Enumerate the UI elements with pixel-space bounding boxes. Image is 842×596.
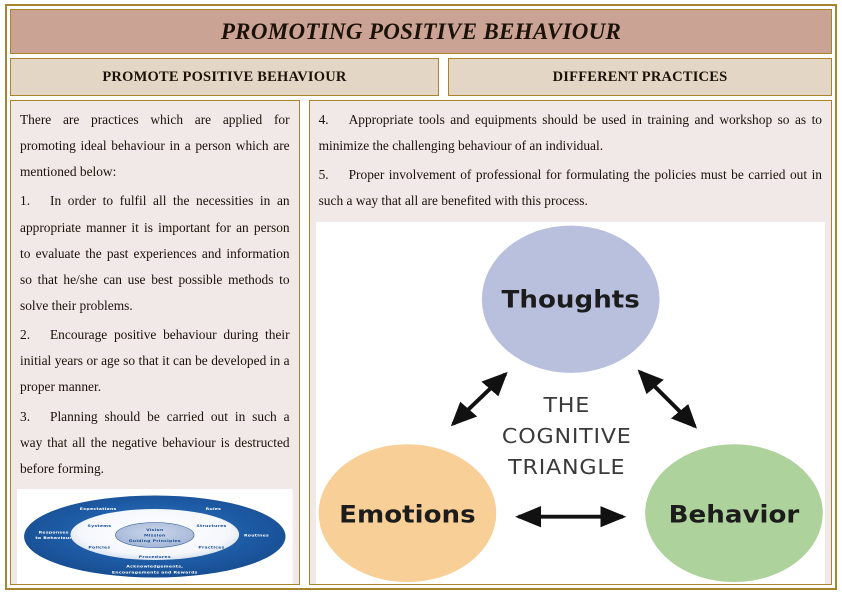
column-header-left-label: PROMOTE POSITIVE BEHAVIOUR (102, 69, 346, 86)
label-responses-line2: to Behaviour (35, 536, 72, 540)
left-paragraph-intro-text: There are practices which are applied fo… (20, 112, 290, 179)
slide-title-band: PROMOTING POSITIVE BEHAVIOUR (10, 9, 832, 54)
label-rules: Rules (206, 507, 222, 511)
column-header-left: PROMOTE POSITIVE BEHAVIOUR (10, 58, 439, 96)
content-cell-left: There are practices which are applied fo… (10, 100, 300, 585)
cognitive-triangle-figure: Thoughts Emotions Behavior THE COGNITIVE… (316, 222, 825, 584)
right-paragraph-5-number: 5. (319, 162, 349, 188)
right-paragraph-4-text: Appropriate tools and equipments should … (319, 112, 822, 153)
label-structures: Structures (196, 524, 226, 528)
label-acknowledgements-line2: Encouragements and Rewards (112, 570, 198, 574)
center-label-line1: THE (542, 394, 590, 418)
left-paragraph-2: 2.Encourage positive behaviour during th… (20, 322, 290, 400)
concentric-behaviour-framework-figure: Expectations Rules Responses to Behaviou… (17, 489, 293, 584)
thoughts-label: Thoughts (501, 285, 639, 313)
label-routines: Routines (244, 533, 269, 537)
column-headers-row: PROMOTE POSITIVE BEHAVIOUR DIFFERENT PRA… (10, 58, 832, 96)
left-paragraph-2-number: 2. (20, 322, 50, 348)
behavior-label: Behavior (668, 500, 799, 528)
emotions-label: Emotions (339, 500, 476, 528)
slide-frame: PROMOTING POSITIVE BEHAVIOUR PROMOTE POS… (5, 4, 837, 590)
left-paragraph-1-number: 1. (20, 188, 50, 214)
label-practices: Practices (198, 545, 225, 549)
content-row: There are practices which are applied fo… (10, 100, 832, 585)
label-acknowledgements-line1: Acknowledgements, (126, 564, 183, 568)
slide-root: PROMOTING POSITIVE BEHAVIOUR PROMOTE POS… (0, 0, 842, 596)
left-paragraph-3: 3.Planning should be carried out in such… (20, 404, 290, 482)
left-paragraph-2-text: Encourage positive behaviour during thei… (20, 327, 290, 394)
left-paragraph-intro: There are practices which are applied fo… (20, 107, 290, 185)
right-paragraph-5: 5.Proper involvement of professional for… (319, 162, 822, 214)
label-vision: Vision (146, 528, 163, 532)
label-procedures: Procedures (139, 555, 171, 559)
center-label-line2: COGNITIVE (502, 425, 632, 449)
label-policies: Policies (88, 545, 110, 549)
page-title: PROMOTING POSITIVE BEHAVIOUR (221, 19, 621, 45)
left-paragraph-1-text: In order to fulfil all the necessities i… (20, 193, 290, 313)
label-responses-line1: Responses (39, 530, 70, 534)
left-paragraph-3-number: 3. (20, 404, 50, 430)
cognitive-triangle-diagram: Thoughts Emotions Behavior THE COGNITIVE… (316, 222, 825, 584)
label-systems: Systems (88, 524, 112, 528)
right-paragraph-5-text: Proper involvement of professional for f… (319, 167, 822, 208)
right-paragraph-4-number: 4. (319, 107, 349, 133)
content-cell-right: 4.Appropriate tools and equipments shoul… (309, 100, 832, 585)
label-expectations: Expectations (80, 507, 117, 511)
center-label-line3: TRIANGLE (507, 455, 625, 479)
label-guiding-principles: Guiding Principles (129, 539, 181, 543)
label-mission: Mission (144, 533, 166, 537)
column-header-right: DIFFERENT PRACTICES (448, 58, 832, 96)
concentric-behaviour-framework-diagram: Expectations Rules Responses to Behaviou… (17, 489, 293, 584)
left-paragraph-3-text: Planning should be carried out in such a… (20, 409, 290, 476)
left-paragraph-1: 1.In order to fulfil all the necessities… (20, 188, 290, 319)
right-paragraph-4: 4.Appropriate tools and equipments shoul… (319, 107, 822, 159)
column-header-right-label: DIFFERENT PRACTICES (553, 69, 728, 86)
